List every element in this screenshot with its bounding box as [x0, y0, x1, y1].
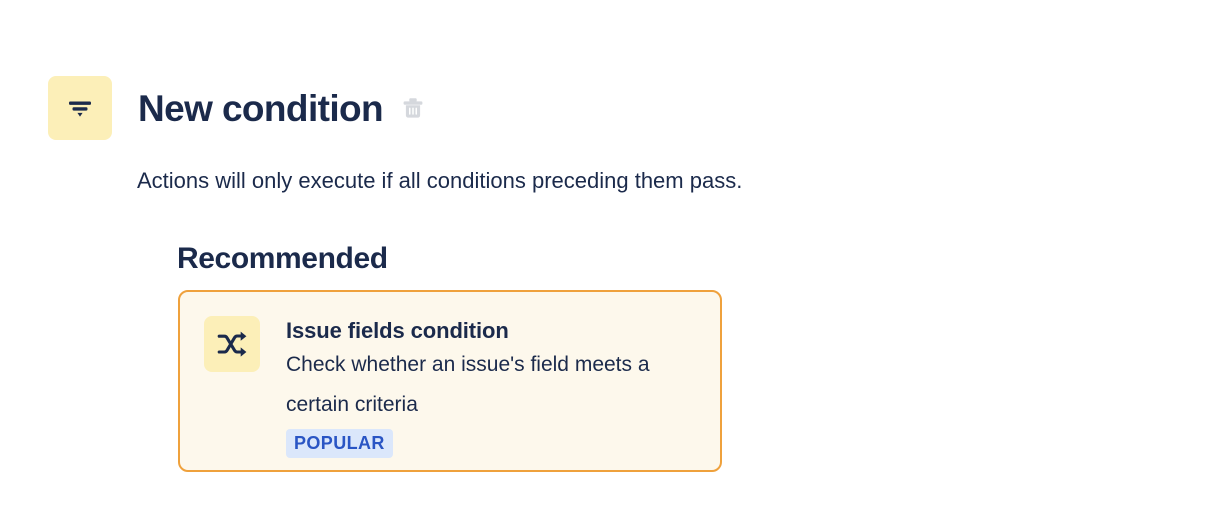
title-wrap: New condition	[138, 90, 427, 127]
trash-icon	[400, 95, 426, 121]
condition-description: Actions will only execute if all conditi…	[137, 165, 742, 197]
filter-icon-tile	[48, 76, 112, 140]
card-title: Issue fields condition	[286, 317, 686, 345]
condition-header: New condition	[48, 76, 427, 140]
condition-card-issue-fields[interactable]: Issue fields condition Check whether an …	[178, 290, 722, 472]
card-description: Check whether an issue's field meets a c…	[286, 345, 686, 425]
page-title: New condition	[138, 90, 383, 127]
badge-row: POPULAR	[286, 429, 686, 458]
status-badge-popular: POPULAR	[286, 429, 393, 458]
shuffle-icon	[216, 329, 248, 359]
delete-condition-button[interactable]	[399, 94, 427, 122]
section-heading-recommended: Recommended	[177, 241, 388, 277]
card-body: Issue fields condition Check whether an …	[286, 316, 686, 470]
shuffle-icon-tile	[204, 316, 260, 372]
filter-icon	[63, 91, 97, 125]
